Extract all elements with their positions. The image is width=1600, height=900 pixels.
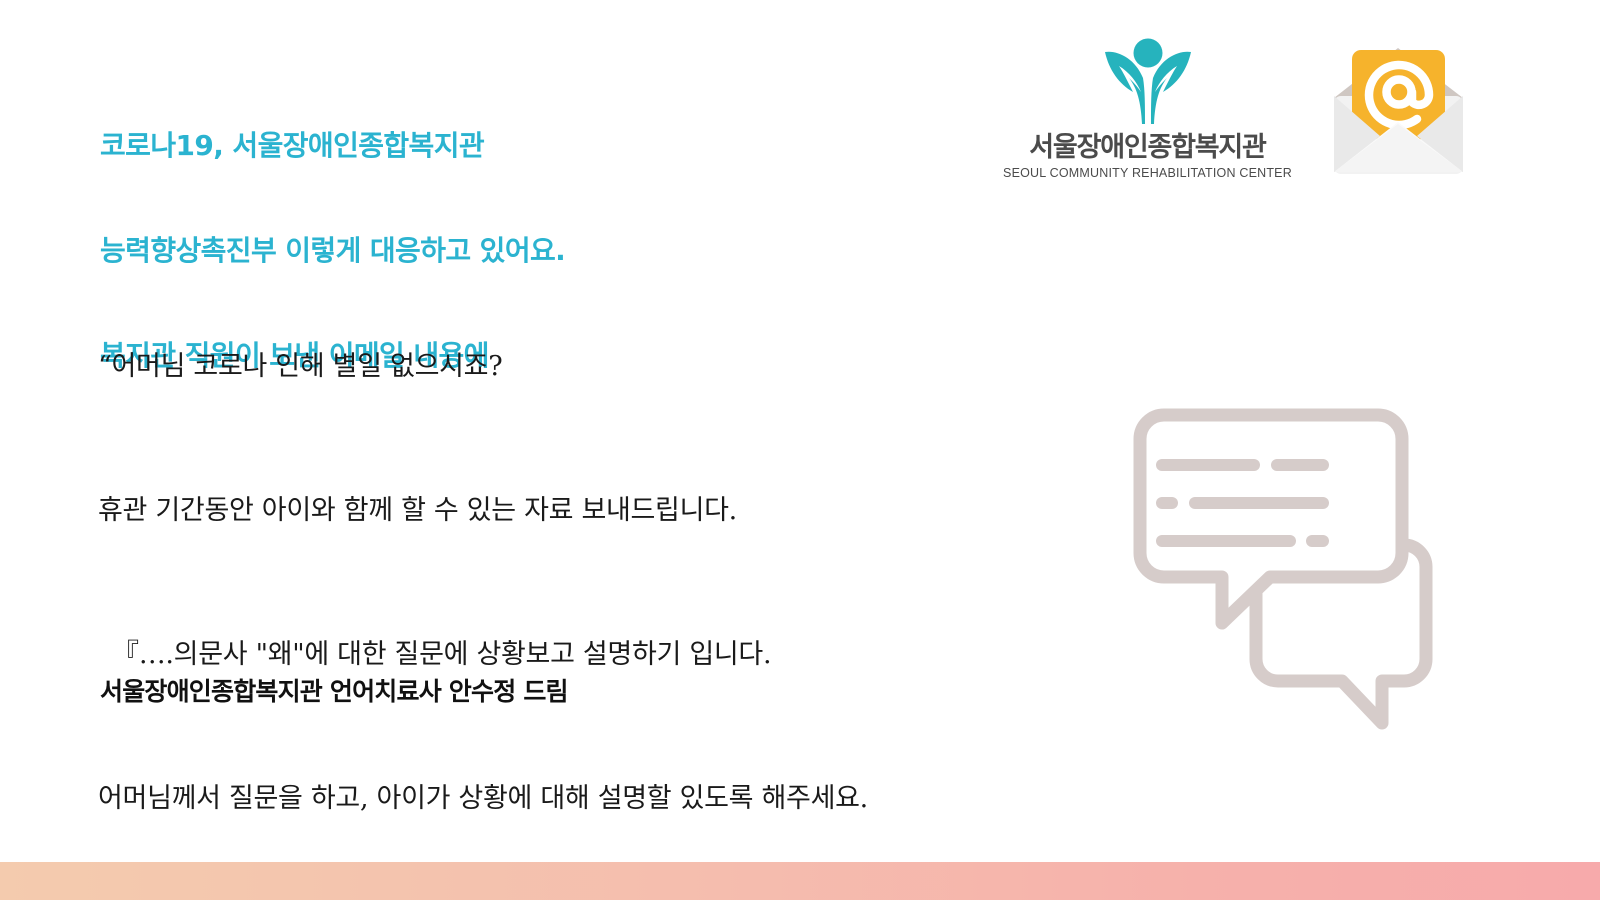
page-title-line-1: 코로나19, 서울장애인종합복지관 xyxy=(100,128,565,163)
email-body-text: “어머님 코로나 인해 별일 없으시죠? 휴관 기간동안 아이와 함께 할 수 … xyxy=(98,247,1158,900)
body-line-4: 어머님께서 질문을 하고, 아이가 상황에 대해 설명할 있도록 해주세요. xyxy=(98,775,1158,823)
email-envelope-icon xyxy=(1316,40,1481,185)
signature-line: 서울장애인종합복지관 언어치료사 안수정 드림 xyxy=(100,672,568,708)
organization-logo: 서울장애인종합복지관 SEOUL COMMUNITY REHABILITATIO… xyxy=(1000,36,1295,186)
slide-canvas: 코로나19, 서울장애인종합복지관 능력향상촉진부 이렇게 대응하고 있어요. … xyxy=(0,0,1600,900)
body-line-1: “어머님 코로나 인해 별일 없으시죠? xyxy=(98,343,1158,391)
logo-figure-icon xyxy=(1083,36,1213,128)
logo-name-english: SEOUL COMMUNITY REHABILITATION CENTER xyxy=(1000,166,1295,180)
speech-bubbles-icon xyxy=(1110,385,1480,755)
bottom-gradient-bar xyxy=(0,862,1600,900)
logo-name-korean: 서울장애인종합복지관 xyxy=(1000,132,1295,163)
body-line-2: 휴관 기간동안 아이와 함께 할 수 있는 자료 보내드립니다. xyxy=(98,487,1158,535)
